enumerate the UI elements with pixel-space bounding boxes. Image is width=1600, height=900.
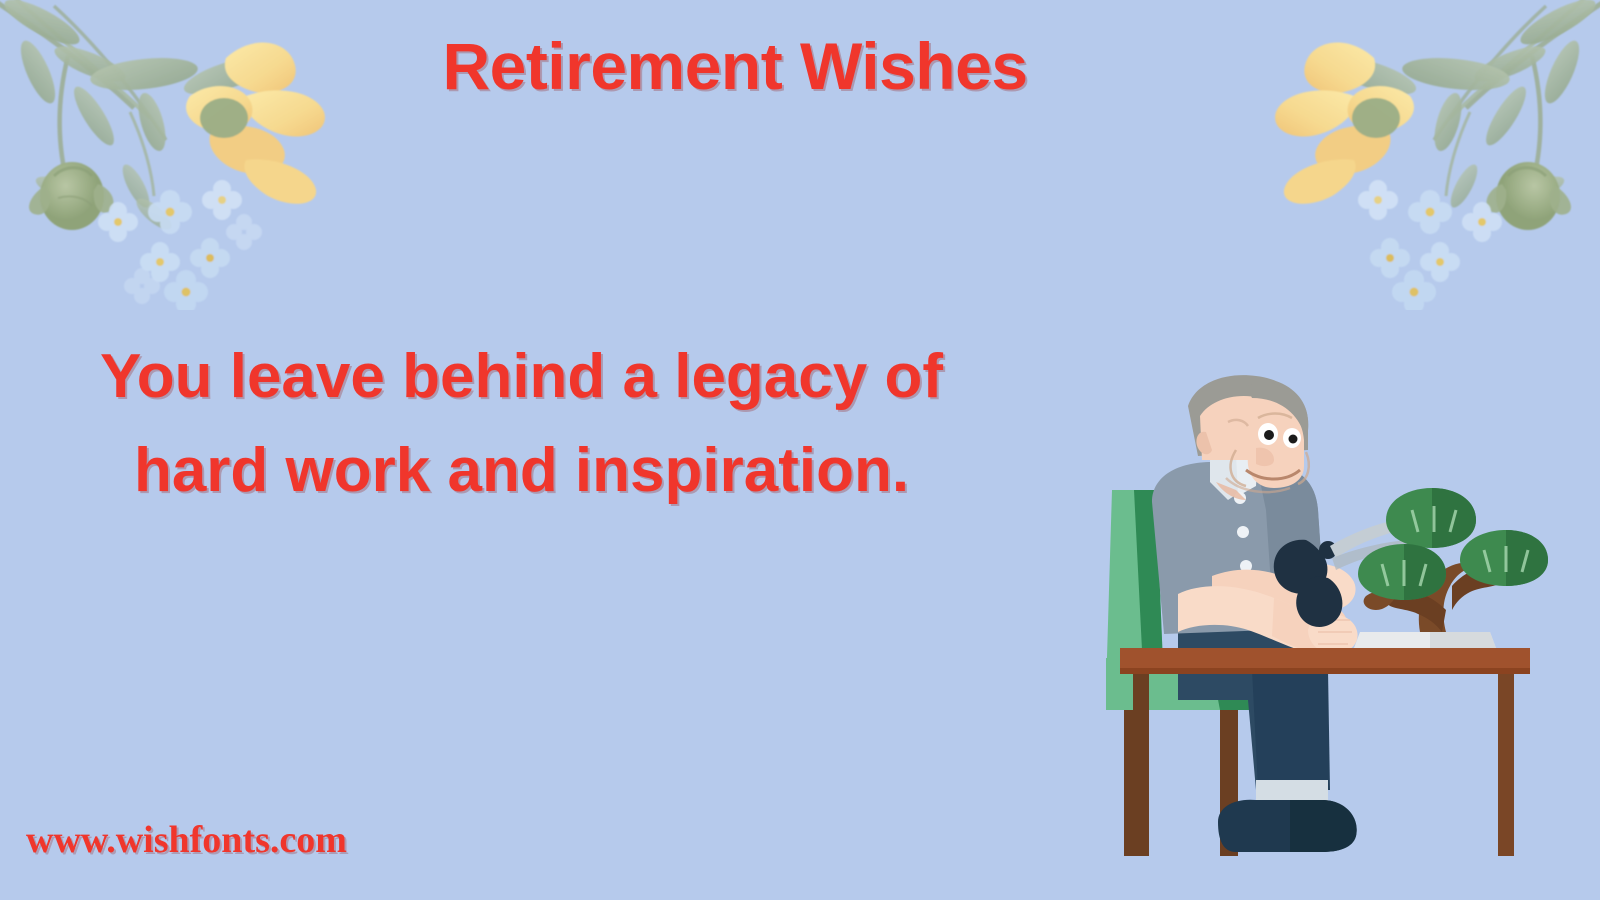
foliage-cluster-top [1386,488,1476,548]
website-watermark: www.wishfonts.com [26,818,347,862]
page-title: Retirement Wishes [0,28,1600,104]
retirement-wishes-poster: Retirement Wishes You leave behind a leg… [0,0,1600,900]
bonsai-pot [1354,632,1496,648]
wish-message-line-1: You leave behind a legacy of [24,330,1019,424]
foliage-cluster-right [1460,530,1548,586]
illustration-elderly-man-trimming-bonsai [1060,370,1560,870]
flower-bud [29,162,113,230]
bonsai-tree [1358,488,1548,632]
forget-me-not-cluster [98,180,262,310]
wish-message: You leave behind a legacy of hard work a… [24,330,1019,518]
wish-message-line-2: hard work and inspiration. [24,424,1019,518]
